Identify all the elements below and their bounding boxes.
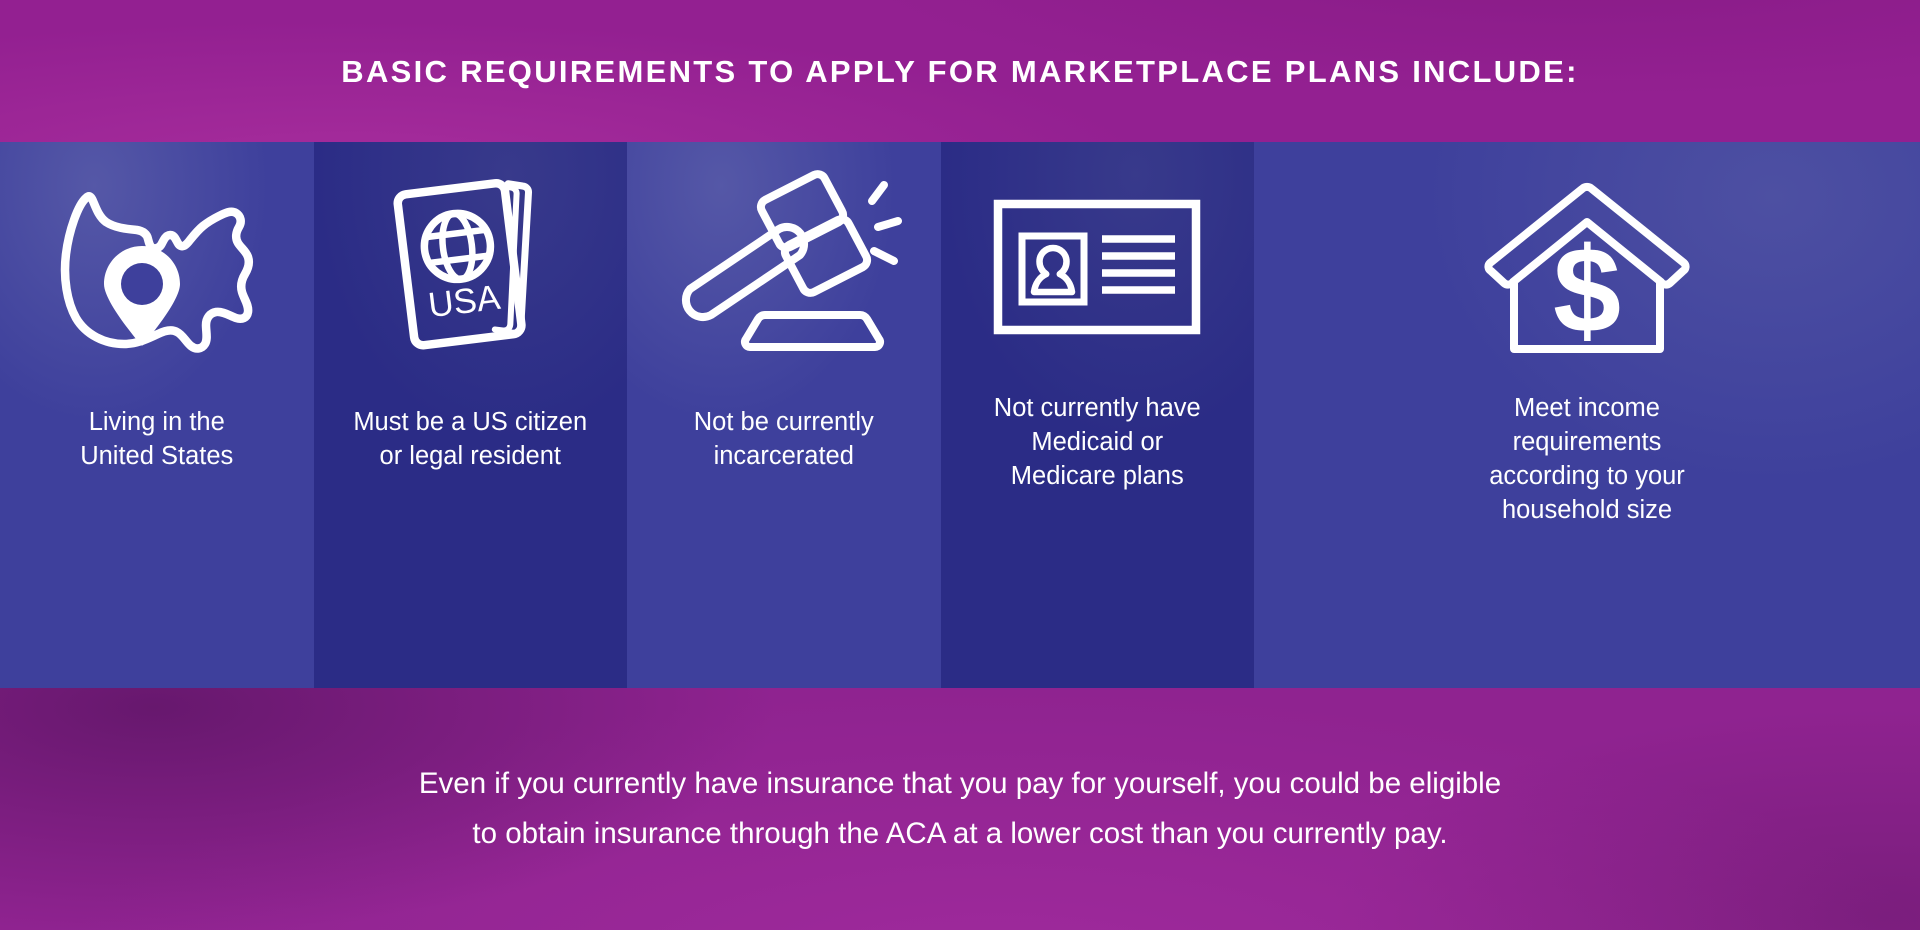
icon-container <box>627 142 941 392</box>
icon-container: USA <box>314 142 628 392</box>
house-dollar-icon: $ <box>1482 177 1692 357</box>
page-title: BASIC REQUIREMENTS TO APPLY FOR MARKETPL… <box>341 56 1578 87</box>
requirement-label: Not currently have Medicaid or Medicare … <box>953 392 1241 494</box>
requirement-panel-us-citizen: USA Must be a US citizen or legal reside… <box>314 142 628 688</box>
icon-container <box>0 142 314 392</box>
id-card-icon <box>992 192 1202 342</box>
header-band: BASIC REQUIREMENTS TO APPLY FOR MARKETPL… <box>0 0 1920 142</box>
footer-message: Even if you currently have insurance tha… <box>419 759 1501 858</box>
requirements-panel-row: Living in the United States <box>0 142 1920 688</box>
requirement-panel-no-medicaid-medicare: Not currently have Medicaid or Medicare … <box>941 142 1255 688</box>
requirement-label: Meet income requirements according to yo… <box>1281 392 1894 528</box>
passport-usa-label: USA <box>426 278 503 326</box>
us-map-location-pin-icon <box>42 172 272 362</box>
dollar-sign-glyph: $ <box>1553 222 1621 357</box>
usa-passport-icon: USA <box>370 167 570 367</box>
icon-container: $ <box>1254 142 1920 392</box>
infographic-root: BASIC REQUIREMENTS TO APPLY FOR MARKETPL… <box>0 0 1920 930</box>
requirement-panel-income-requirements: $ Meet income requirements according to … <box>1254 142 1920 688</box>
footer-band: Even if you currently have insurance tha… <box>0 688 1920 930</box>
gavel-icon <box>664 167 904 367</box>
icon-container <box>941 142 1255 392</box>
requirement-panel-not-incarcerated: Not be currently incarcerated <box>627 142 941 688</box>
requirement-label: Living in the United States <box>13 392 301 474</box>
requirement-panel-living-in-us: Living in the United States <box>0 142 314 688</box>
requirement-label: Not be currently incarcerated <box>640 392 928 474</box>
requirement-label: Must be a US citizen or legal resident <box>326 392 614 474</box>
